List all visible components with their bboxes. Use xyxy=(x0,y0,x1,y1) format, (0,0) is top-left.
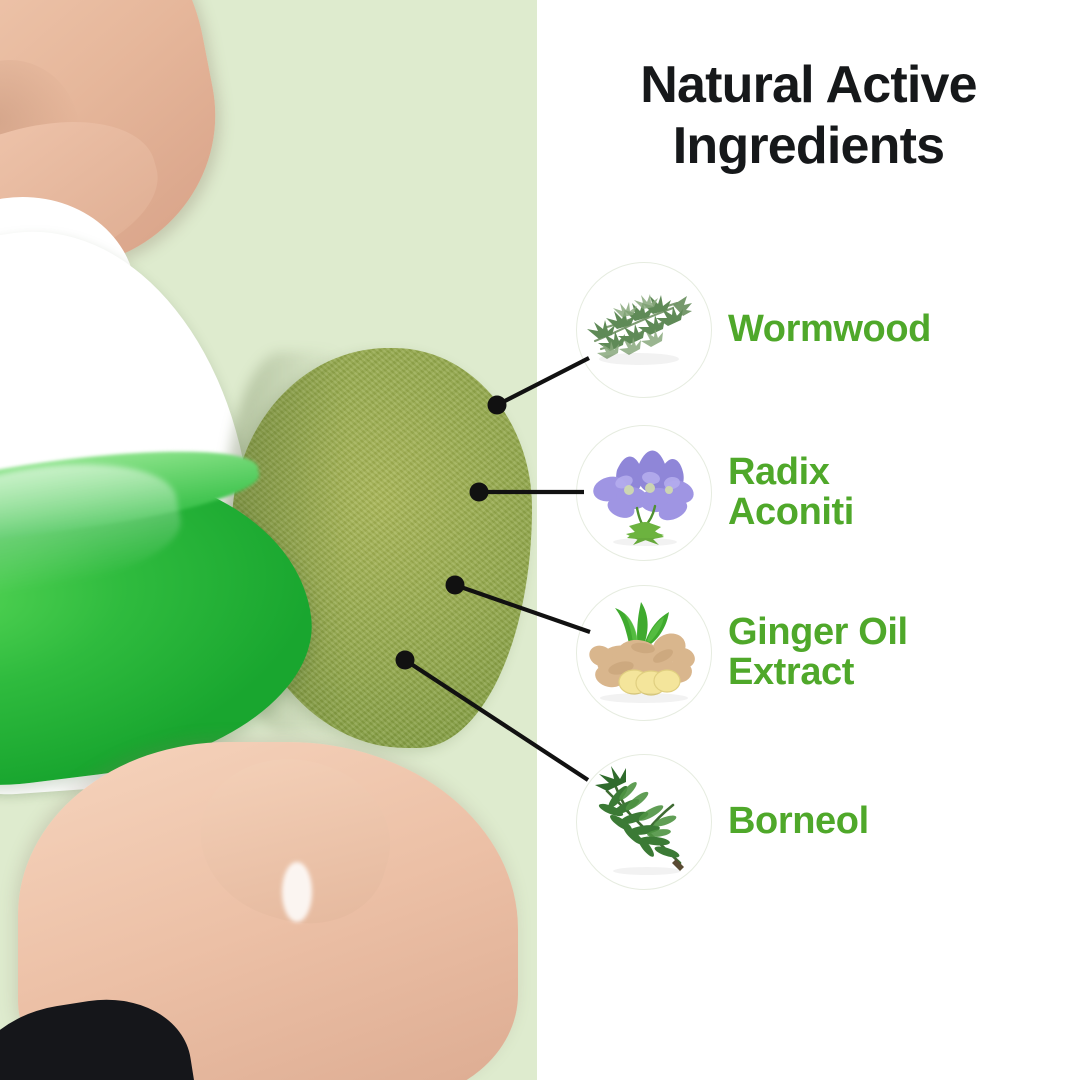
page-title-line-2: Ingredients xyxy=(537,116,1080,177)
product-infographic: Natural Active Ingredients xyxy=(0,0,1080,1080)
ingredient-label-wormwood: Wormwood xyxy=(728,310,931,350)
borneol-thumbnail xyxy=(576,754,712,890)
ingredient-row-radix-aconiti: Radix Aconiti xyxy=(537,418,1080,568)
ingredients-panel: Natural Active Ingredients xyxy=(537,0,1080,1080)
radix-aconiti-thumbnail xyxy=(576,425,712,561)
ingredient-label-ginger-oil-extract: Ginger Oil Extract xyxy=(728,613,908,692)
ingredient-label-borneol: Borneol xyxy=(728,802,869,842)
ginger-oil-thumbnail xyxy=(576,585,712,721)
product-photo-panel xyxy=(0,0,537,1080)
page-title-line-1: Natural Active xyxy=(537,55,1080,116)
ingredient-row-wormwood: Wormwood xyxy=(537,255,1080,405)
ginger-root-icon xyxy=(577,586,711,720)
grip-gap-highlight xyxy=(282,862,312,922)
page-title: Natural Active Ingredients xyxy=(537,55,1080,178)
ingredient-row-ginger-oil-extract: Ginger Oil Extract xyxy=(537,578,1080,728)
ingredient-row-borneol: Borneol xyxy=(537,747,1080,897)
ingredient-label-radix-aconiti: Radix Aconiti xyxy=(728,453,854,532)
aconite-flower-icon xyxy=(577,426,711,560)
wormwood-sprig-icon xyxy=(577,263,711,397)
rosemary-sprig-icon xyxy=(577,755,711,889)
wormwood-thumbnail xyxy=(576,262,712,398)
